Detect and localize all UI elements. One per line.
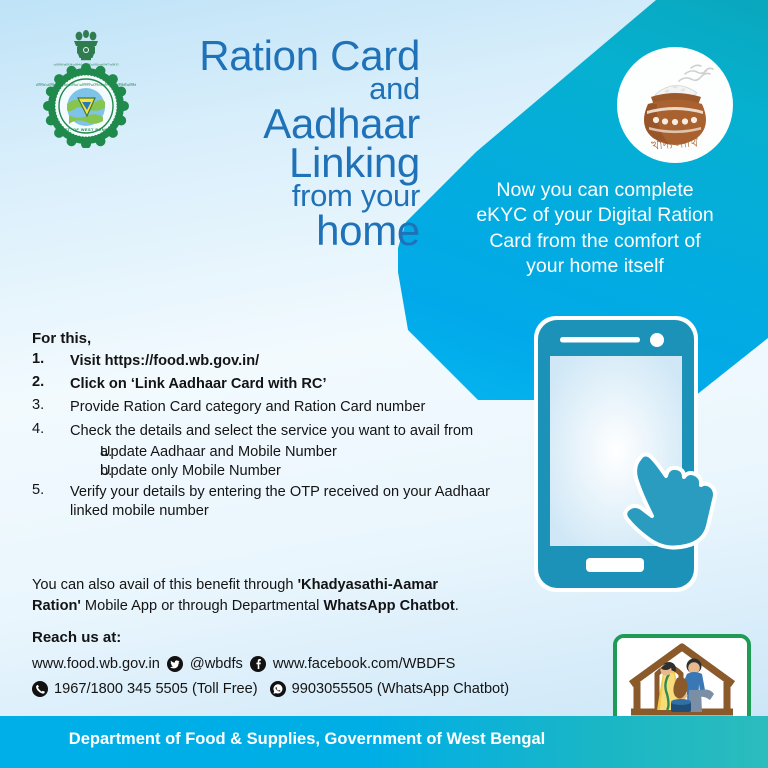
substep-text: Update only Mobile Number <box>100 464 502 479</box>
instructions-block: For this, 1. Visit https://food.wb.gov.i… <box>32 331 502 525</box>
step-number: 4. <box>32 422 70 437</box>
list-item: 1. Visit https://food.wb.gov.in/ <box>32 352 502 371</box>
title-line-1: Ration Card <box>120 36 420 75</box>
step-text: Provide Ration Card category and Ration … <box>70 398 502 417</box>
instruction-steps-list-continued: 5. Verify your details by entering the O… <box>32 483 502 520</box>
note-bold-chatbot: WhatsApp Chatbot <box>323 598 454 614</box>
page-title: Ration Card and Aadhaar Linking from you… <box>120 36 420 250</box>
list-item: a. Update Aadhaar and Mobile Number <box>32 445 502 460</box>
substep-number: a. <box>32 445 100 460</box>
list-item: 4. Check the details and select the serv… <box>32 422 502 441</box>
phone-number-text[interactable]: 1967/1800 345 5505 (Toll Free) <box>54 681 258 697</box>
twitter-handle-text[interactable]: @wbdfs <box>190 656 243 672</box>
twitter-icon[interactable] <box>167 656 183 672</box>
list-item: 2. Click on ‘Link Aadhaar Card with RC’ <box>32 375 502 394</box>
title-line-3: Aadhaar <box>120 104 420 143</box>
contact-row-web: www.food.wb.gov.in @wbdfs www.facebook.c… <box>32 656 455 672</box>
step-text: Check the details and select the service… <box>70 422 502 441</box>
khadya-sathi-logo: খাদ্য সাথি <box>617 47 733 163</box>
note-part-3: . <box>455 598 459 614</box>
step-number: 1. <box>32 352 70 367</box>
list-item: b. Update only Mobile Number <box>32 464 502 479</box>
step-number: 3. <box>32 398 70 413</box>
additional-channels-note: You can also avail of this benefit throu… <box>32 575 482 616</box>
facebook-url-text[interactable]: www.facebook.com/WBDFS <box>273 656 455 672</box>
list-item: 5. Verify your details by entering the O… <box>32 483 502 520</box>
title-line-4: Linking <box>120 143 420 182</box>
step-text: Verify your details by entering the OTP … <box>70 483 502 520</box>
step-number: 2. <box>32 375 70 390</box>
instruction-substeps-list: a. Update Aadhaar and Mobile Number b. U… <box>32 445 502 479</box>
promo-text: Now you can complete eKYC of your Digita… <box>470 178 720 279</box>
svg-text:GOVT. OF WEST BENGAL: GOVT. OF WEST BENGAL <box>57 127 114 132</box>
note-part-2: Mobile App or through Departmental <box>81 598 324 614</box>
title-line-6: home <box>120 211 420 250</box>
substep-number: b. <box>32 464 100 479</box>
website-text[interactable]: www.food.wb.gov.in <box>32 656 160 672</box>
step-text: Visit https://food.wb.gov.in/ <box>70 352 502 371</box>
instructions-intro: For this, <box>32 331 502 346</box>
step-text: Click on ‘Link Aadhaar Card with RC’ <box>70 375 502 394</box>
phone-icon[interactable] <box>32 681 48 697</box>
smartphone-with-hand-illustration <box>512 308 768 600</box>
contact-row-phone: 1967/1800 345 5505 (Toll Free) 990305550… <box>32 681 509 697</box>
instruction-steps-list: 1. Visit https://food.wb.gov.in/ 2. Clic… <box>32 352 502 440</box>
khadya-sathi-caption: খাদ্য সাথি <box>651 135 699 152</box>
whatsapp-number-text[interactable]: 9903055505 (WhatsApp Chatbot) <box>292 681 509 697</box>
facebook-icon[interactable] <box>250 656 266 672</box>
note-part-1: You can also avail of this benefit throu… <box>32 577 298 593</box>
footer-department-text: Department of Food & Supplies, Governmen… <box>0 730 614 749</box>
step-number: 5. <box>32 483 70 498</box>
reach-us-label: Reach us at: <box>32 629 121 646</box>
substep-text: Update Aadhaar and Mobile Number <box>100 445 502 460</box>
list-item: 3. Provide Ration Card category and Rati… <box>32 398 502 417</box>
whatsapp-icon[interactable] <box>270 681 286 697</box>
